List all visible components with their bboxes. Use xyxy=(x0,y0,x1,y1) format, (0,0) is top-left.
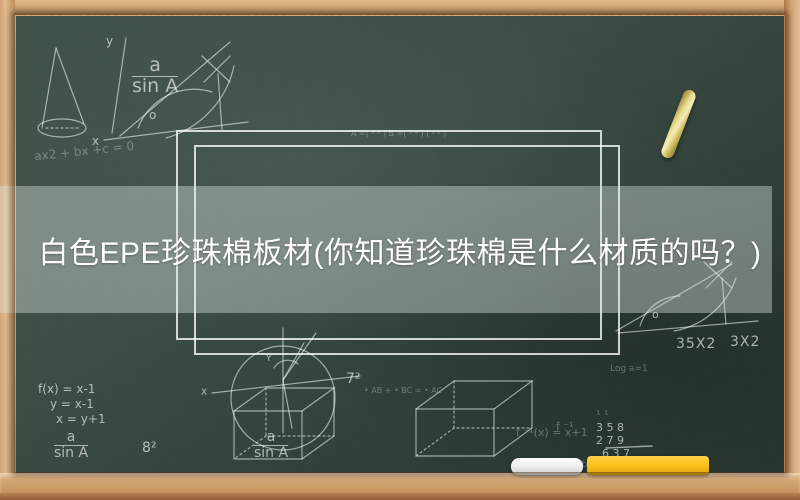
frame-top-bevel xyxy=(0,0,800,15)
chalk-ledge-lip xyxy=(0,493,800,500)
frame-inner-shadow xyxy=(14,14,786,473)
chalkboard-banner: a sin A ax2 + bx +c = 0 y x o o f(x) = x… xyxy=(0,0,800,500)
